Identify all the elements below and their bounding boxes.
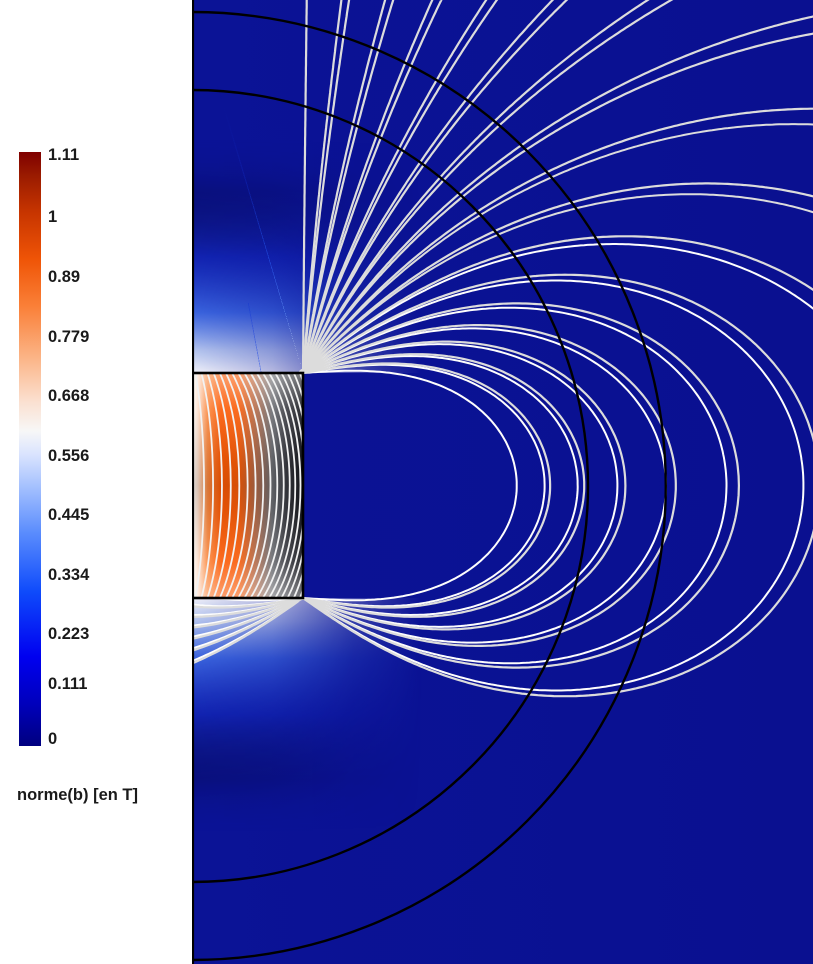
colorbar-tick-label: 0.668	[48, 388, 89, 405]
colorbar-tick-label: 0.111	[48, 676, 87, 693]
colorbar-tick-label: 0.334	[48, 567, 89, 584]
colorbar-title-label: norme(b) [en T]	[17, 786, 138, 805]
magnetic-field-plot	[192, 0, 813, 964]
colorbar-tick-label: 1.11	[48, 147, 79, 164]
colorbar-tick-label: 0.556	[48, 448, 89, 465]
field-plot-canvas	[192, 0, 813, 964]
colorbar-tick-label: 0.445	[48, 507, 89, 524]
colorbar-tick-label: 0.223	[48, 626, 89, 643]
colorbar-gradient-strip	[19, 152, 41, 746]
colorbar-tick-label: 1	[48, 209, 57, 226]
colorbar-legend-panel: 1.11 1 0.89 0.779 0.668 0.556 0.445 0.33…	[0, 0, 192, 964]
colorbar-tick-label: 0.779	[48, 329, 89, 346]
colorbar-tick-label: 0.89	[48, 269, 80, 286]
magnet-rectangle	[192, 373, 318, 598]
colorbar-tick-label: 0	[48, 731, 57, 748]
